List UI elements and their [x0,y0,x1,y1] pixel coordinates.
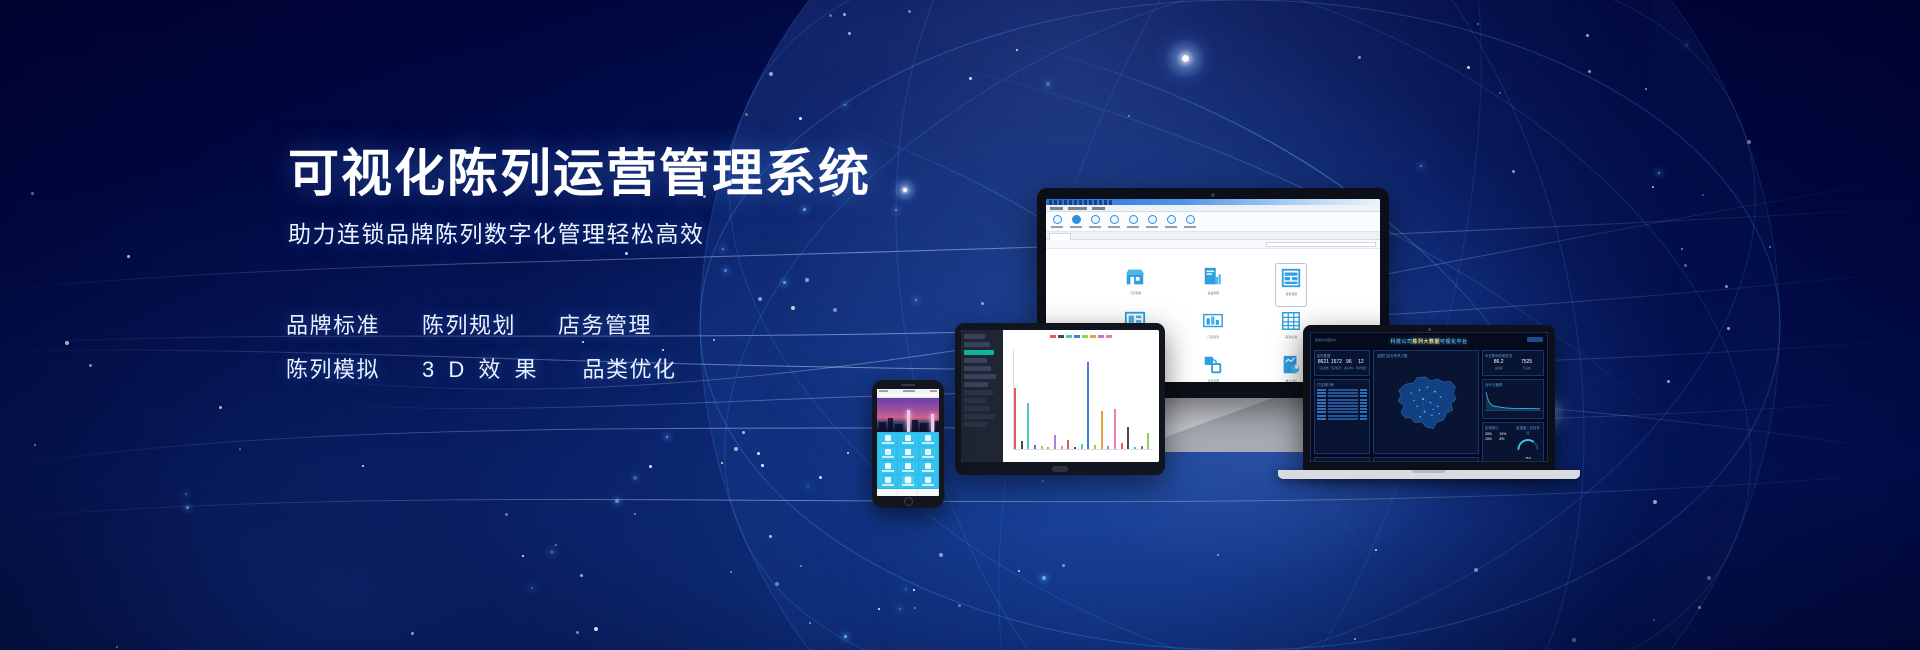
tablet-bar-chart [1013,350,1153,450]
legend-swatch [1058,335,1064,338]
phone-app-icon [905,435,911,441]
bar [1134,447,1136,449]
store-ranking-title: 门店排行榜 [1317,382,1367,387]
table-row [1317,408,1367,410]
legend-swatch [1074,335,1080,338]
kpi-value: 12 [1356,360,1366,365]
toolbar-refresh-icon[interactable] [1070,215,1082,228]
dashboard-header: 数据实时更新中 科技公司陈列大数据可视化平台 [1314,336,1544,347]
bar [1054,435,1056,449]
toolbar-label [1070,226,1082,228]
today-kpi-row: 86.2完成率7525已完成 [1485,360,1541,370]
dashboard-left-column: 实时数据 8621门店总数1572陈列任务96达标率%12异常预警 门店排行榜 … [1314,350,1370,462]
phone-app-cell[interactable] [878,433,897,446]
kpi-label: 已完成 [1521,366,1532,370]
kpi-row: 8621门店总数1572陈列任务96达标率%12异常预警 [1317,360,1367,370]
fullscreen-button[interactable] [1527,337,1543,342]
phone-app-grid[interactable] [877,432,939,489]
phone-app-cell[interactable] [919,447,938,460]
phone-app-label [882,456,894,458]
phone-app-cell[interactable] [898,447,917,460]
bar-group [1027,350,1033,449]
toolbar-label [1184,226,1196,228]
app-icon-label: 商品管理 [1207,291,1219,295]
trend-line-chart [1485,389,1541,411]
phone-app-label [882,484,894,486]
app-icon-store-icon[interactable]: 门店管理 [1120,263,1150,307]
bar [1141,446,1143,449]
kpi-value: 7525 [1521,360,1532,365]
tablet-menu-item[interactable] [964,374,996,379]
bar [1081,444,1083,449]
phone-app-icon [885,435,891,441]
bar-group [1041,350,1047,449]
store-type-bars-panel: 门店类型分布 [1373,457,1479,462]
analytics-icon [1280,354,1302,376]
table-row [1317,402,1367,404]
bar [1101,411,1103,449]
app-icon-label: 统计分析 [1285,379,1297,382]
device-mockups: 门店管理商品管理货架管理陈列模拟门店陈列陈列标准消息中心任务管理统计分析 数据实… [0,0,1920,650]
table-grid-icon [1280,310,1302,332]
toolbar-store-icon[interactable] [1127,215,1139,228]
window-searchbar[interactable] [1046,240,1380,249]
phone-app-cell[interactable] [878,447,897,460]
stat-title: 区域统计 [1485,425,1513,430]
bar-group [1127,350,1133,449]
laptop-screen: 数据实时更新中 科技公司陈列大数据可视化平台 实时数据 8621门店总数1572… [1310,332,1548,462]
stat-values: 33%24%15%8% [1485,432,1513,441]
tablet-menu-item[interactable] [964,350,994,355]
bar-group [1054,350,1060,449]
tablet-menu-item[interactable] [964,406,990,411]
laptop-device: 数据实时更新中 科技公司陈列大数据可视化平台 实时数据 8621门店总数1572… [1303,325,1555,471]
bar [1147,433,1149,449]
stat-value: 24% [1499,432,1512,436]
bar [1067,440,1069,449]
box-icon [1110,215,1119,224]
task-flow-icon [1202,354,1224,376]
bars-title: 门店类型分布 [1376,460,1476,462]
table-row [1317,415,1367,417]
trend-title: 近30日趋势 [1485,382,1541,387]
bar [1021,441,1023,449]
bar-group [1074,350,1080,449]
bar [1094,445,1096,449]
bar [1034,445,1036,449]
tablet-menu-item[interactable] [964,334,985,339]
stat-value: 8% [1499,437,1512,441]
app-icon-label: 货架管理 [1285,292,1297,296]
app-icon-task-flow-icon[interactable]: 任务管理 [1198,351,1228,382]
legend-swatch [1082,335,1088,338]
tablet-menu-item[interactable] [964,358,987,363]
laptop-camera-icon [1428,328,1431,331]
store-ranking-rows [1317,389,1367,420]
bar-group [1114,350,1120,449]
phone-tab-task[interactable] [898,489,919,496]
phone-app-label [922,470,934,472]
kpi-label: 异常预警 [1356,366,1366,370]
app-icon-label: 门店管理 [1129,291,1141,295]
bar [1087,362,1089,449]
bar [1114,409,1116,449]
laptop-base [1278,470,1580,479]
bar [1027,403,1029,449]
toolbar-label [1127,226,1139,228]
bi-dashboard: 数据实时更新中 科技公司陈列大数据可视化平台 实时数据 8621门店总数1572… [1311,333,1547,461]
bar-layout-icon [1202,310,1224,332]
trend-panel: 近30日趋势 [1482,379,1544,419]
stat-value: 15% [1485,437,1498,441]
window-toolbar[interactable] [1046,212,1380,232]
donut-title: 品类占比分析 [1317,460,1367,462]
bar-group [1087,350,1093,449]
phone-tabbar[interactable] [877,489,939,496]
grid-icon [1167,215,1176,224]
kpi-item: 96达标率% [1344,360,1354,370]
exit-icon [1186,215,1195,224]
bar [1047,447,1049,449]
phone-app-cell[interactable] [898,475,917,488]
phone-app-icon [925,463,931,469]
monitor-camera-icon [1211,193,1215,197]
phone-app-label [902,470,914,472]
stat-value: 33% [1485,432,1498,436]
bar-group [1101,350,1107,449]
kpi-item: 1572陈列任务 [1331,360,1342,370]
phone-app-icon [905,463,911,469]
kpi-panel: 实时数据 8621门店总数1572陈列任务96达标率%12异常预警 [1314,350,1370,376]
legend-swatch [1066,335,1072,338]
store-icon [1124,266,1146,288]
kpi-value: 1572 [1331,360,1342,365]
donut-panel: 品类占比分析 ABC [1314,457,1370,462]
bar-group [1021,350,1027,449]
table-row [1317,389,1367,391]
toolbar-search-icon[interactable] [1089,215,1101,228]
phone-app-cell[interactable] [919,433,938,446]
tablet-home-button[interactable] [1052,466,1068,472]
phone-app-cell[interactable] [878,461,897,474]
app-icon-label: 门店陈列 [1207,335,1219,339]
phone-app-icon [925,449,931,455]
stat-gauge-panel: 区域统计 33%24%15%8% 健康度 / 达标评分 75.6 [1482,422,1544,462]
phone-app-label [882,470,894,472]
toolbar-cube-icon[interactable] [1146,215,1158,228]
phone-app-icon [885,463,891,469]
tablet-menu-item[interactable] [964,422,987,427]
phone-screen [877,389,939,496]
bar-group [1121,350,1127,449]
gauge-title: 健康度 / 达标评分 [1515,425,1541,435]
phone-app-icon [925,477,931,483]
toolbar-grid-icon[interactable] [1165,215,1177,228]
table-row [1317,405,1367,407]
app-icon-document-chart-icon[interactable]: 商品管理 [1198,263,1228,307]
tablet-menu-item[interactable] [964,382,988,387]
search-input[interactable] [1266,242,1376,247]
phone-hero-image [877,398,939,432]
kpi-item: 86.2完成率 [1494,360,1504,370]
toolbar-label [1051,226,1063,228]
tablet-menu-item[interactable] [964,398,986,403]
tablet-menu-item[interactable] [964,366,991,371]
bar [1107,446,1109,449]
china-map [1389,371,1463,433]
app-icon-bar-layout-icon[interactable]: 门店陈列 [1198,307,1228,351]
bar [1061,446,1063,449]
phone-app-cell[interactable] [919,475,938,488]
bar [1127,427,1129,449]
phone-app-label [922,442,934,444]
china-map-panel: 全国门店分布热力图 [1373,350,1479,454]
toolbar-label [1108,226,1120,228]
bar-group [1014,350,1020,449]
kpi-item: 12异常预警 [1356,360,1366,370]
tablet-menu-item[interactable] [964,342,990,347]
table-row [1317,395,1367,397]
dashboard-title-main: 陈列大数据 [1412,339,1440,345]
tablet-menu-item[interactable] [964,390,993,395]
phone-app-label [922,456,934,458]
bar-group [1141,350,1147,449]
phone-app-label [902,484,914,486]
phone-app-label [922,484,934,486]
bar [1014,388,1016,449]
phone-app-icon [925,435,931,441]
phone-tab-mine[interactable] [918,489,939,496]
today-progress-panel: 今日陈列完成情况 86.2完成率7525已完成 [1482,350,1544,376]
window-title-text [1049,200,1113,205]
app-icon-label: 陈列标准 [1285,335,1297,339]
phone-app-label [902,456,914,458]
phone-app-cell[interactable] [898,461,917,474]
phone-speaker [901,384,915,386]
document-chart-icon [1202,266,1224,288]
kpi-label: 完成率 [1494,366,1504,370]
tablet-device [955,323,1165,475]
dashboard-middle-column: 全国门店分布热力图 [1373,350,1479,462]
kpi-label: 门店总数 [1318,366,1329,370]
table-row [1317,418,1367,420]
legend-swatch [1090,335,1096,338]
table-row [1317,392,1367,394]
phone-app-icon [905,477,911,483]
bar-group [1047,350,1053,449]
bar-group [1147,350,1153,449]
search-icon [1091,215,1100,224]
tab-home[interactable] [1049,233,1071,240]
phone-app-label [902,442,914,444]
bar [1074,447,1076,449]
gauge-chart [1516,437,1540,451]
phone-app-cell[interactable] [898,433,917,446]
tablet-screen [961,330,1159,462]
toolbar-label [1089,226,1101,228]
toolbar-label [1146,226,1158,228]
tablet-content [1003,330,1159,462]
bar-group [1067,350,1073,449]
kpi-value: 8621 [1318,360,1329,365]
store-ranking-panel: 门店排行榜 [1314,379,1370,454]
bar-group [1061,350,1067,449]
kpi-item: 8621门店总数 [1318,360,1329,370]
kpi-value: 86.2 [1494,360,1504,365]
dashboard-title-prefix: 科技公司 [1390,339,1412,345]
legend-swatch [1098,335,1104,338]
phone-app-cell[interactable] [919,461,938,474]
tablet-sidebar[interactable] [961,330,1003,462]
legend-swatch [1106,335,1112,338]
window-tabstrip[interactable] [1046,232,1380,240]
app-icon-label: 任务管理 [1207,379,1219,382]
app-icon-shelf-icon[interactable]: 货架管理 [1275,263,1307,307]
toolbar-box-icon[interactable] [1108,215,1120,228]
app-icon-analytics-icon[interactable]: 统计分析 [1276,351,1306,382]
bar [1041,446,1043,449]
table-row [1317,399,1367,401]
store-icon [1129,215,1138,224]
kpi-label: 陈列任务 [1331,366,1342,370]
kpi-item: 7525已完成 [1521,360,1532,370]
kpi-value: 96 [1344,360,1354,365]
shelf-icon [1280,267,1302,289]
monitor-stand [1150,398,1275,452]
chart-legend [1007,335,1155,338]
phone-app-label [882,442,894,444]
app-icon-table-grid-icon[interactable]: 陈列标准 [1276,307,1306,351]
gear-icon [1053,215,1062,224]
map-title: 全国门店分布热力图 [1377,353,1408,358]
bar-group [1094,350,1100,449]
phone-app-icon [885,477,891,483]
phone-app-icon [885,449,891,455]
kpi-label: 达标率% [1344,366,1354,370]
tablet-menu-item[interactable] [964,414,995,419]
phone-home-button[interactable] [904,497,913,506]
bar-group [1081,350,1087,449]
dashboard-title: 科技公司陈列大数据可视化平台 [1390,338,1467,345]
dashboard-grid: 实时数据 8621门店总数1572陈列任务96达标率%12异常预警 门店排行榜 … [1314,350,1544,458]
refresh-icon [1072,215,1081,224]
table-row [1317,411,1367,413]
phone-device [872,380,944,508]
hero-banner: 可视化陈列运营管理系统 助力连锁品牌陈列数字化管理轻松高效 品牌标准 陈列规划 … [0,0,1920,650]
phone-app-cell[interactable] [878,475,897,488]
dashboard-title-suffix: 可视化平台 [1440,339,1468,345]
bar-group [1134,350,1140,449]
phone-tab-home[interactable] [877,489,898,496]
bar-group [1034,350,1040,449]
toolbar-exit-icon[interactable] [1184,215,1196,228]
gauge-value: 75.6 [1515,456,1541,460]
dashboard-header-left: 数据实时更新中 [1315,338,1336,342]
today-progress-title: 今日陈列完成情况 [1485,353,1541,358]
window-menubar[interactable] [1046,205,1380,212]
toolbar-gear-icon[interactable] [1051,215,1063,228]
bar [1121,443,1123,449]
cube-icon [1148,215,1157,224]
phone-app-icon [905,449,911,455]
kpi-panel-title: 实时数据 [1317,353,1367,358]
legend-swatch [1050,335,1056,338]
bar-group [1107,350,1113,449]
toolbar-label [1165,226,1177,228]
dashboard-right-column: 今日陈列完成情况 86.2完成率7525已完成 近30日趋势 [1482,350,1544,462]
